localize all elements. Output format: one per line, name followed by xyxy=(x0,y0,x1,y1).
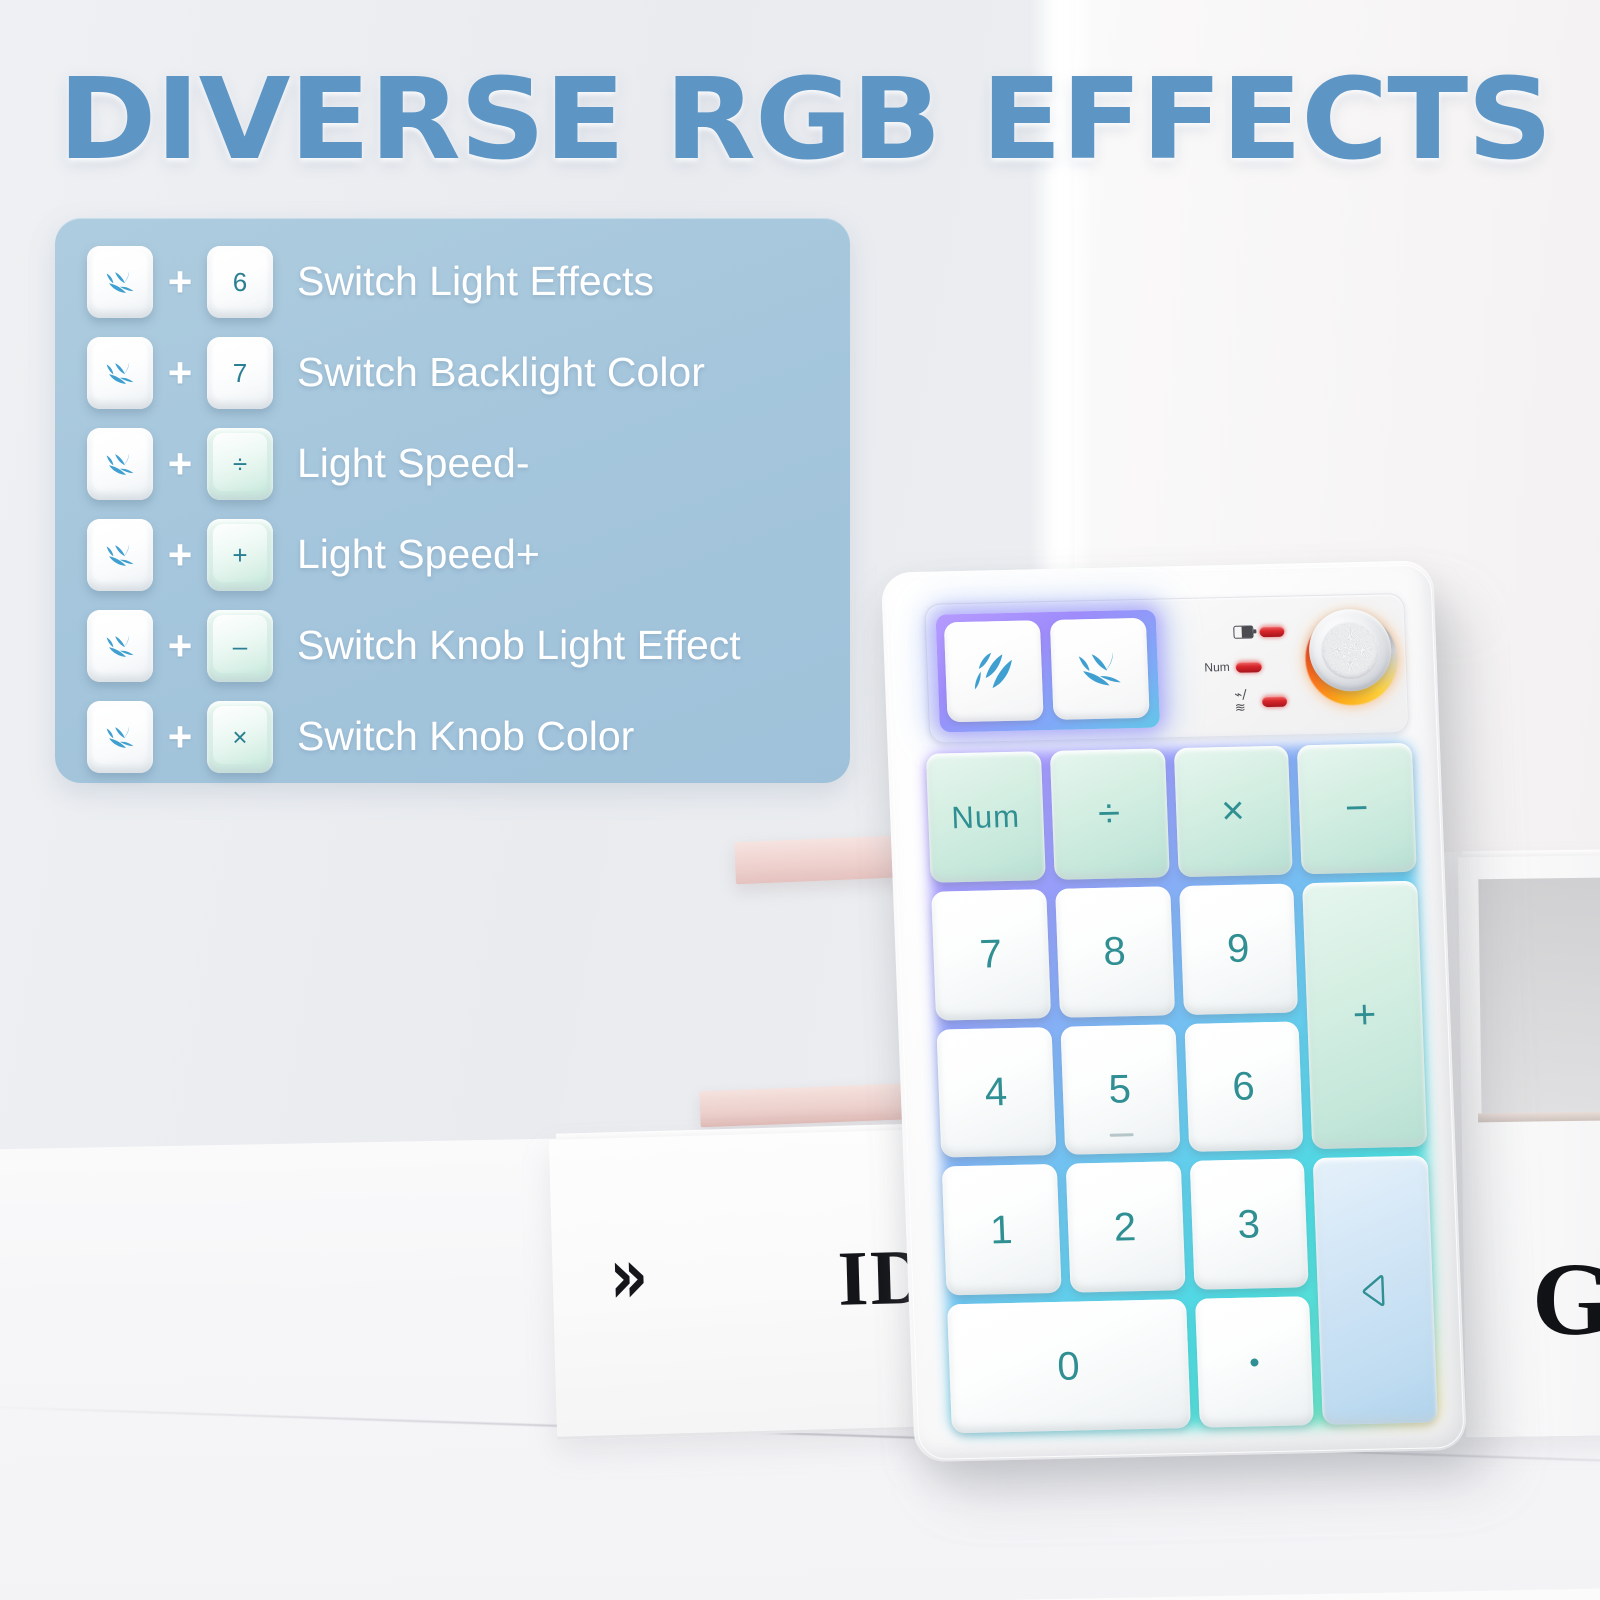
legend-row-label: Switch Light Effects xyxy=(297,261,654,302)
legend-plus-sign: + xyxy=(153,534,207,576)
legend-plus-sign: + xyxy=(153,352,207,394)
legend-key-label: + xyxy=(232,542,247,568)
led-label-num: Num xyxy=(1185,660,1230,675)
key-label: 3 xyxy=(1237,1204,1261,1244)
fn-leaf-icon xyxy=(100,629,140,663)
key-4[interactable]: 4 xyxy=(936,1027,1056,1158)
enter-arrow-icon xyxy=(1355,1270,1397,1311)
key-5[interactable]: 5 xyxy=(1060,1024,1180,1155)
volume-knob[interactable] xyxy=(1300,606,1402,718)
right-box-letter: G xyxy=(1531,1239,1600,1359)
legend-plus-sign: + xyxy=(153,625,207,667)
key-×[interactable]: × xyxy=(1173,746,1293,877)
fn-leaf-icon xyxy=(100,265,140,299)
legend-row-label: Switch Knob Light Effect xyxy=(297,625,741,666)
homing-bar xyxy=(1110,1134,1134,1138)
key-label: 5 xyxy=(1108,1069,1132,1109)
legend-row-2: +7Switch Backlight Color xyxy=(55,327,850,418)
key-label-decimal xyxy=(1250,1358,1258,1366)
legend-row-1: +6Switch Light Effects xyxy=(55,236,850,327)
led-indicator-num xyxy=(1236,661,1262,673)
key-1[interactable]: 1 xyxy=(942,1164,1062,1295)
led-row-wireless: ⌁/≋ xyxy=(1187,687,1288,717)
legend-key-7[interactable]: 7 xyxy=(207,337,273,409)
key-label: 0 xyxy=(1057,1346,1081,1386)
key-label: + xyxy=(1352,995,1377,1036)
key-label: Num xyxy=(951,801,1021,834)
legend-row-label: Switch Backlight Color xyxy=(297,352,705,393)
bluetooth-wifi-icon: ⌁/≋ xyxy=(1234,688,1257,714)
key-label: 6 xyxy=(1232,1066,1256,1106)
battery-icon xyxy=(1233,625,1254,638)
legend-row-5: +–Switch Knob Light Effect xyxy=(55,600,850,691)
legend-plus-sign: + xyxy=(153,261,207,303)
key-label: 9 xyxy=(1226,929,1250,969)
key-9[interactable]: 9 xyxy=(1179,883,1299,1014)
keypad-key-grid: Num÷×−789+4561230 xyxy=(926,743,1438,1434)
macro-key-1[interactable] xyxy=(944,620,1044,722)
fn-leaf-icon xyxy=(100,447,140,481)
right-box-shadow-band xyxy=(1478,877,1600,1120)
legend-row-label: Light Speed+ xyxy=(297,534,540,575)
right-box-band-edge xyxy=(1478,1111,1600,1123)
key-+[interactable]: + xyxy=(1302,881,1427,1150)
legend-key-label: × xyxy=(232,724,247,750)
legend-key-×[interactable]: × xyxy=(207,701,273,773)
legend-key-–[interactable]: – xyxy=(207,610,273,682)
key-Num[interactable]: Num xyxy=(926,751,1046,882)
key-−[interactable]: − xyxy=(1297,743,1417,874)
led-indicator-wireless xyxy=(1262,695,1287,707)
key-.[interactable] xyxy=(1194,1296,1314,1427)
key-label: ÷ xyxy=(1097,794,1121,834)
keypad-top-module: Num ⌁/≋ xyxy=(924,593,1409,744)
legend-key-6[interactable]: 6 xyxy=(207,246,273,318)
legend-key-fn[interactable] xyxy=(87,428,153,500)
legend-key-fn[interactable] xyxy=(87,519,153,591)
legend-key-fn[interactable] xyxy=(87,337,153,409)
key-2[interactable]: 2 xyxy=(1065,1162,1185,1293)
key-÷[interactable]: ÷ xyxy=(1050,748,1170,879)
legend-row-4: ++Light Speed+ xyxy=(55,509,850,600)
key-label: − xyxy=(1344,788,1369,829)
legend-key-÷[interactable]: ÷ xyxy=(207,428,273,500)
product-photo-scene: G » ID xyxy=(0,0,1600,1600)
key-8[interactable]: 8 xyxy=(1055,886,1175,1017)
fn-leaf-icon xyxy=(100,538,140,572)
key-label: × xyxy=(1220,791,1245,832)
legend-row-6: +×Switch Knob Color xyxy=(55,691,850,782)
led-label-battery xyxy=(1184,632,1227,633)
led-label-wireless xyxy=(1187,702,1229,703)
key-3[interactable]: 3 xyxy=(1189,1159,1309,1290)
shortcut-legend-panel: +6Switch Light Effects+7Switch Backlight… xyxy=(55,218,850,783)
key-label: 7 xyxy=(979,934,1003,974)
legend-key-label: ÷ xyxy=(233,451,247,477)
fn-leaf-icon xyxy=(1068,642,1132,695)
macro-key-2-fn[interactable] xyxy=(1050,618,1150,720)
legend-key-label: 6 xyxy=(233,269,247,295)
page-title: DIVERSE RGB EFFECTS xyxy=(58,62,1542,180)
double-chevron-icon: » xyxy=(609,1237,644,1316)
fn-leaf-icon xyxy=(100,720,140,754)
legend-key-fn[interactable] xyxy=(87,610,153,682)
legend-key-+[interactable]: + xyxy=(207,519,273,591)
legend-row-label: Switch Knob Color xyxy=(297,716,634,757)
key-6[interactable]: 6 xyxy=(1184,1021,1304,1152)
legend-plus-sign: + xyxy=(153,716,207,758)
led-indicator-battery xyxy=(1259,625,1285,637)
knob-textured-cap xyxy=(1320,621,1380,680)
legend-key-fn[interactable] xyxy=(87,701,153,773)
legend-key-label: – xyxy=(233,633,247,659)
status-led-group: Num ⌁/≋ xyxy=(1184,617,1288,724)
legend-row-label: Light Speed- xyxy=(297,443,530,484)
legend-key-fn[interactable] xyxy=(87,246,153,318)
leaf-icon xyxy=(962,645,1026,698)
key-label: 2 xyxy=(1113,1207,1137,1247)
legend-key-label: 7 xyxy=(233,360,247,386)
led-row-battery xyxy=(1184,617,1285,647)
numeric-keypad-device: Num ⌁/≋ Num÷×−789+4561230 xyxy=(862,541,1508,1484)
led-row-num: Num xyxy=(1185,652,1286,682)
key-enter[interactable] xyxy=(1313,1156,1438,1425)
key-0[interactable]: 0 xyxy=(947,1299,1190,1433)
top-module-rgb-glow xyxy=(936,610,1161,733)
key-label: 8 xyxy=(1103,932,1127,972)
legend-row-3: +÷Light Speed- xyxy=(55,418,850,509)
legend-plus-sign: + xyxy=(153,443,207,485)
key-label: 1 xyxy=(989,1210,1013,1250)
fn-leaf-icon xyxy=(100,356,140,390)
key-7[interactable]: 7 xyxy=(931,889,1051,1020)
key-label: 4 xyxy=(984,1072,1008,1112)
